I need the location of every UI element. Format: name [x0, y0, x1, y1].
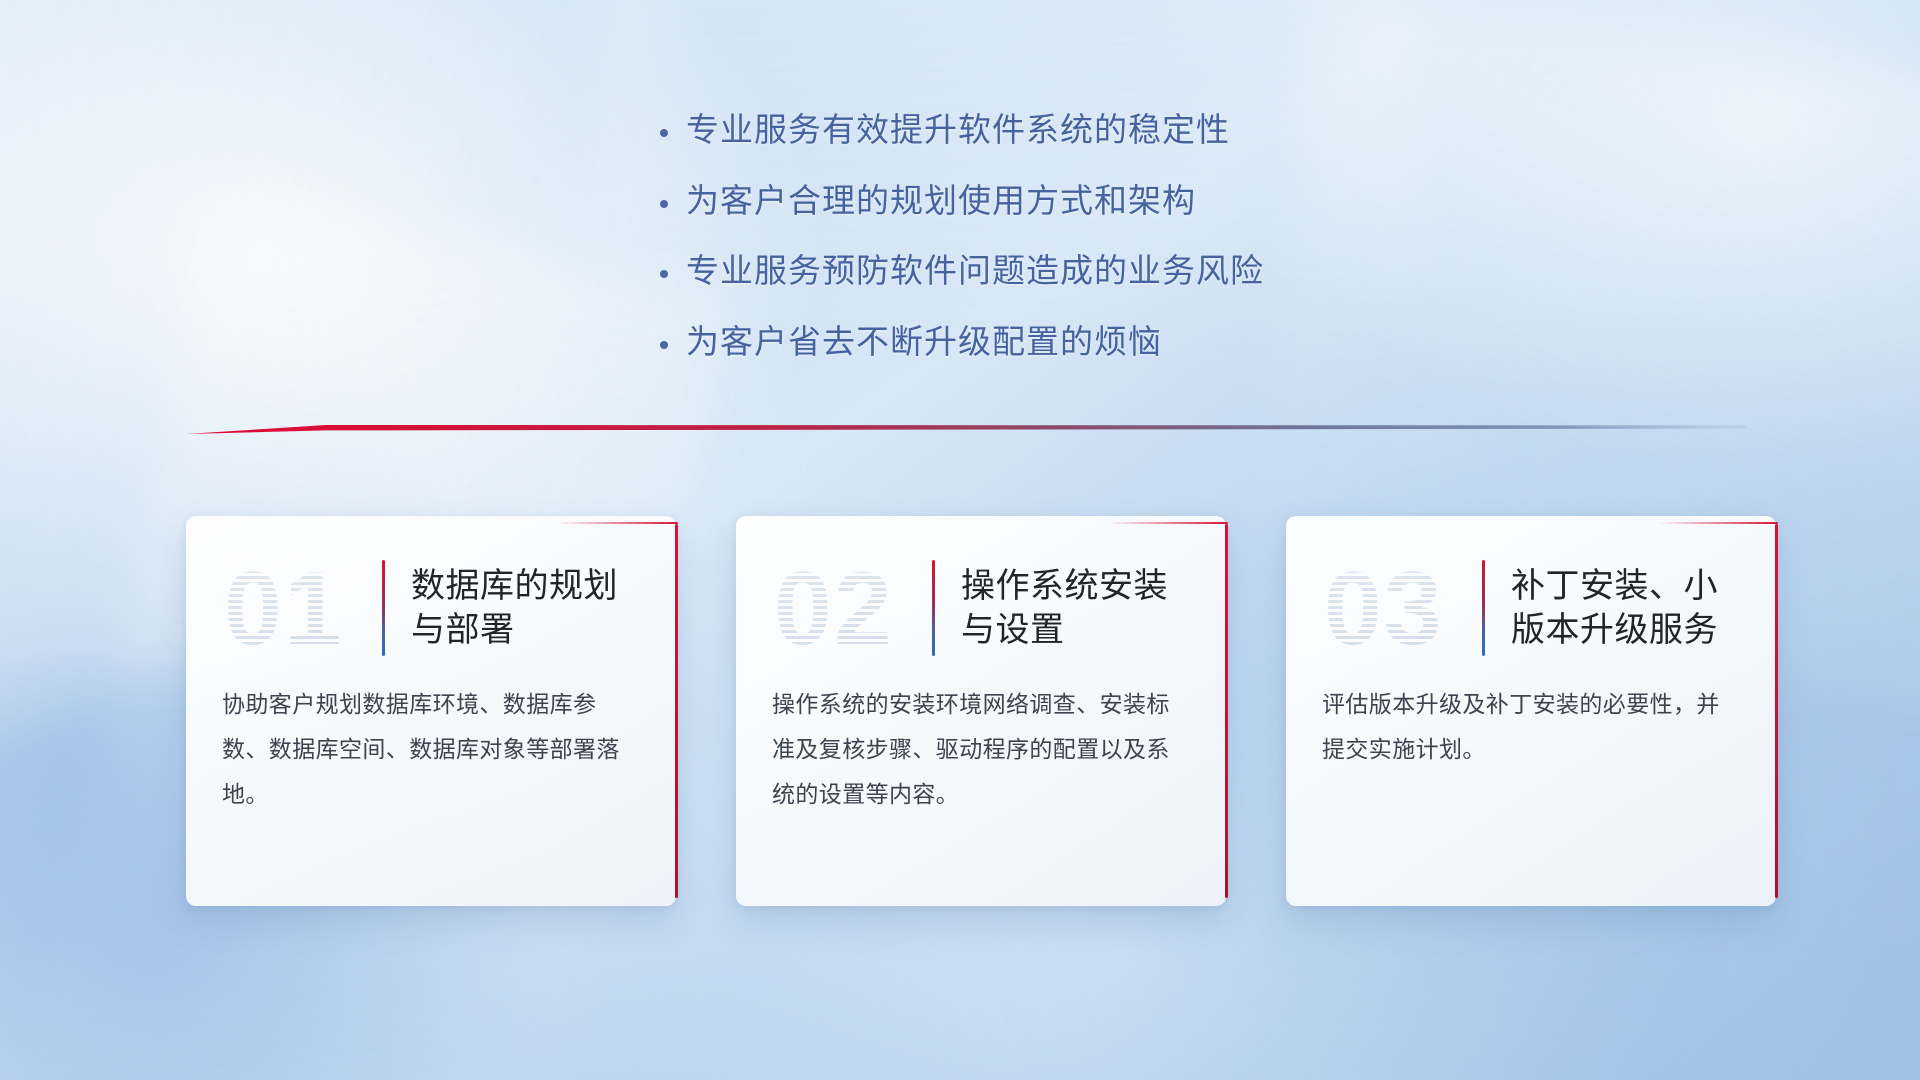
card-title: 数据库的规划与部署	[411, 564, 646, 652]
list-item-label: 专业服务有效提升软件系统的稳定性	[686, 108, 1230, 152]
service-card[interactable]: 03 补丁安装、小版本升级服务 评估版本升级及补丁安装的必要性，并提交实施计划。	[1286, 516, 1776, 906]
card-body-text: 操作系统的安装环境网络调查、安装标准及复核步骤、驱动程序的配置以及系统的设置等内…	[736, 666, 1226, 817]
title-accent-rule	[1482, 560, 1485, 656]
card-header: 02 操作系统安装与设置	[736, 516, 1226, 666]
bullet-dot-icon	[660, 115, 686, 141]
card-body-text: 评估版本升级及补丁安装的必要性，并提交实施计划。	[1286, 666, 1776, 772]
bullet-dot-icon	[660, 327, 686, 353]
benefits-bullet-list: 专业服务有效提升软件系统的稳定性 为客户合理的规划使用方式和架构 专业服务预防软…	[660, 108, 1420, 390]
card-header: 03 补丁安装、小版本升级服务	[1286, 516, 1776, 666]
title-accent-rule	[932, 560, 935, 656]
list-item: 专业服务有效提升软件系统的稳定性	[660, 108, 1420, 152]
bullet-dot-icon	[660, 256, 686, 282]
bullet-dot-icon	[660, 186, 686, 212]
service-card[interactable]: 01 数据库的规划与部署 协助客户规划数据库环境、数据库参数、数据库空间、数据库…	[186, 516, 676, 906]
list-item-label: 专业服务预防软件问题造成的业务风险	[686, 249, 1264, 293]
card-header: 01 数据库的规划与部署	[186, 516, 676, 666]
service-card-list: 01 数据库的规划与部署 协助客户规划数据库环境、数据库参数、数据库空间、数据库…	[186, 516, 1776, 906]
ghost-number-01-icon: 01	[222, 552, 372, 664]
section-divider	[186, 418, 1746, 444]
list-item: 为客户合理的规划使用方式和架构	[660, 179, 1420, 223]
card-title: 操作系统安装与设置	[961, 564, 1196, 652]
title-accent-rule	[382, 560, 385, 656]
service-card[interactable]: 02 操作系统安装与设置 操作系统的安装环境网络调查、安装标准及复核步骤、驱动程…	[736, 516, 1226, 906]
ghost-number-03-icon: 03	[1322, 552, 1472, 664]
list-item-label: 为客户合理的规划使用方式和架构	[686, 179, 1196, 223]
card-title: 补丁安装、小版本升级服务	[1511, 564, 1746, 652]
slide-root: 专业服务有效提升软件系统的稳定性 为客户合理的规划使用方式和架构 专业服务预防软…	[0, 0, 1920, 1080]
list-item: 为客户省去不断升级配置的烦恼	[660, 320, 1420, 364]
ghost-number-02-icon: 02	[772, 552, 922, 664]
list-item-label: 为客户省去不断升级配置的烦恼	[686, 320, 1162, 364]
card-body-text: 协助客户规划数据库环境、数据库参数、数据库空间、数据库对象等部署落地。	[186, 666, 676, 817]
list-item: 专业服务预防软件问题造成的业务风险	[660, 249, 1420, 293]
